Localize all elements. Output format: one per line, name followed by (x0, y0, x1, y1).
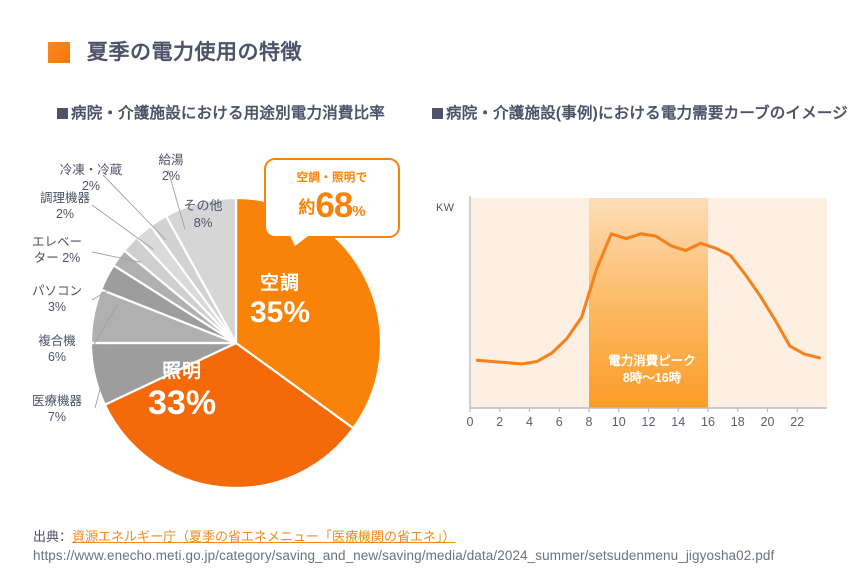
pie-label-sonota: その他8% (170, 198, 236, 231)
pie-label-pasokon: パソコン3% (14, 283, 100, 315)
section-heading-line: 病院・介護施設(事例)における電力需要カーブのイメージ (432, 101, 848, 123)
xtick-label-16: 16 (701, 415, 715, 429)
xtick-label-12: 12 (642, 415, 656, 429)
section-heading-line-label: 病院・介護施設(事例)における電力需要カーブのイメージ (446, 105, 848, 122)
callout-balloon: 空調・照明で 約68% (264, 158, 400, 238)
callout-line1: 空調・照明で (266, 169, 398, 185)
line-chart-xtick-labels: 0246810121416182022 (467, 415, 805, 429)
square-bullet-icon (57, 108, 68, 119)
section-heading-pie-label: 病院・介護施設における用途別電力消費比率 (71, 105, 385, 122)
callout-tail-inner (289, 233, 312, 246)
pie-label-chouri: 調理機器2% (22, 190, 108, 222)
page-footer: 出典：資源エネルギー庁（夏季の省エネメニュー「医療機関の省エネ」） https:… (0, 526, 864, 586)
header-marker-square (48, 42, 70, 63)
pie-label-elevator: エレベーター 2% (14, 234, 100, 266)
callout-percent: % (352, 203, 365, 220)
pie-label-fukugo: 複合機6% (14, 333, 100, 365)
xtick-label-20: 20 (761, 415, 775, 429)
section-heading-pie: 病院・介護施設における用途別電力消費比率 (57, 101, 385, 123)
callout-value: 68 (315, 186, 352, 225)
xtick-label-22: 22 (790, 415, 804, 429)
xtick-label-14: 14 (671, 415, 685, 429)
xtick-label-10: 10 (612, 415, 626, 429)
source-url[interactable]: https://www.enecho.meti.go.jp/category/s… (33, 548, 774, 563)
callout-line2: 約68% (266, 186, 398, 226)
source-prefix: 出典： (33, 529, 72, 544)
source-link[interactable]: 資源エネルギー庁（夏季の省エネメニュー「医療機関の省エネ」） (72, 529, 456, 544)
xtick-label-4: 4 (526, 415, 533, 429)
xtick-label-6: 6 (556, 415, 563, 429)
page-title: 夏季の電力使用の特徴 (87, 36, 302, 66)
xtick-label-2: 2 (496, 415, 503, 429)
peak-label-line1: 電力消費ピーク (584, 353, 720, 370)
xtick-label-8: 8 (586, 415, 593, 429)
line-chart-peak-label: 電力消費ピーク 8時〜16時 (584, 353, 720, 387)
square-bullet-icon (432, 108, 443, 119)
xtick-label-0: 0 (467, 415, 474, 429)
peak-label-line2: 8時〜16時 (584, 370, 720, 387)
line-chart-svg: 0246810121416182022 (424, 140, 864, 440)
xtick-label-18: 18 (731, 415, 745, 429)
callout-approx: 約 (298, 198, 315, 217)
pie-label-kyuto: 給湯2% (140, 152, 202, 184)
source-citation: 出典：資源エネルギー庁（夏季の省エネメニュー「医療機関の省エネ」） (33, 526, 456, 545)
line-chart-panel: KW 0246810121416182022 電力消費ピーク 8時〜16時 (424, 140, 864, 440)
pie-chart-panel: 空調 35% 照明 33% 冷凍・冷蔵2% 調理機器2% エレベーター 2% パ… (0, 140, 424, 515)
pie-label-iryo: 医療機器7% (12, 393, 102, 425)
page-header: 夏季の電力使用の特徴 (0, 0, 864, 90)
pie-slices (91, 198, 381, 488)
